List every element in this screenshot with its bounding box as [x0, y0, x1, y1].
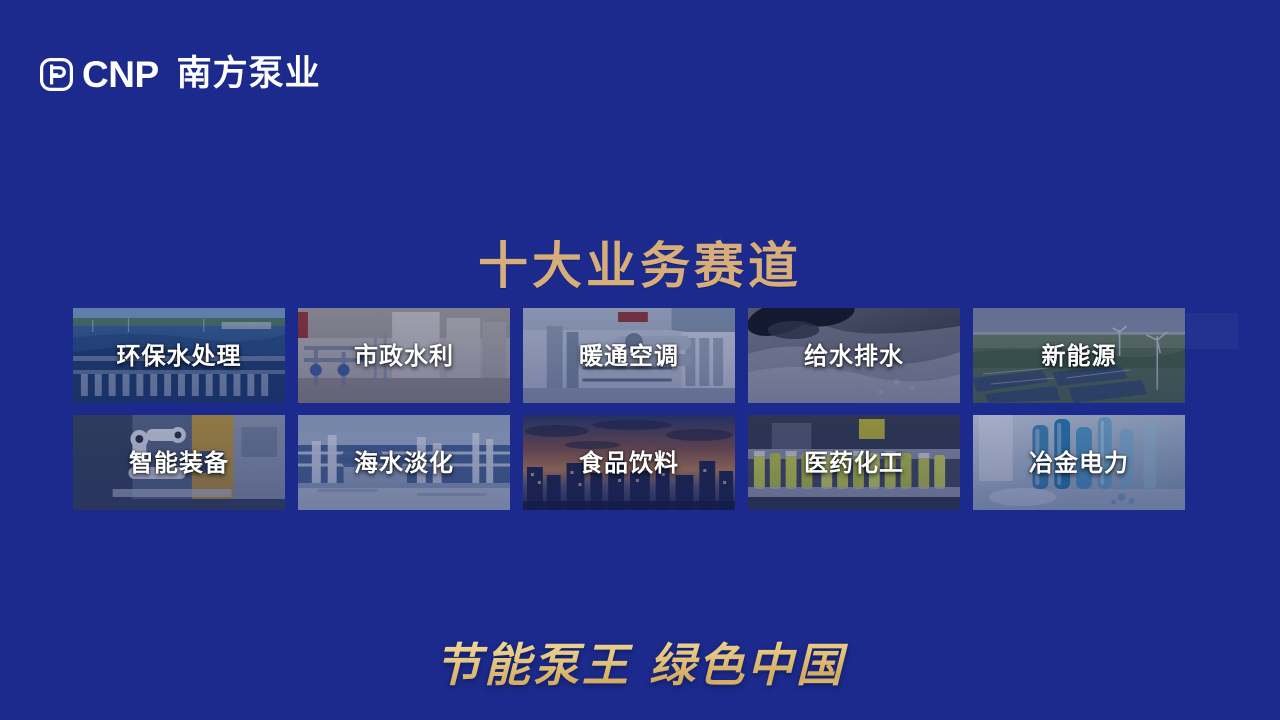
segment-card-label: 冶金电力 — [1029, 451, 1129, 475]
segment-card-pharma-chemical[interactable]: 医药化工 — [748, 415, 960, 510]
slogan-part-1: 节能泵王 — [435, 638, 631, 692]
logo-latin-text: CNP — [82, 56, 159, 93]
segment-card-label: 暖通空调 — [579, 344, 679, 368]
business-segments-grid: 环保水处理 — [73, 308, 1185, 510]
segment-card-metallurgy-power[interactable]: 冶金电力 — [973, 415, 1185, 510]
segment-card-seawater-desalination[interactable]: 海水淡化 — [298, 415, 510, 510]
segment-card-label: 医药化工 — [804, 451, 904, 475]
segment-card-intelligent-equipment[interactable]: 智能装备 — [73, 415, 285, 510]
segment-card-label: 环保水处理 — [117, 344, 242, 368]
segment-card-municipal-water[interactable]: 市政水利 — [298, 308, 510, 403]
brand-slogan: 节能泵王绿色中国 — [0, 640, 1280, 691]
segment-card-label: 给水排水 — [804, 344, 904, 368]
segment-card-label: 食品饮料 — [579, 451, 679, 475]
slide-root: CNP 南方泵业 十大业务赛道 — [0, 0, 1280, 720]
page-title: 十大业务赛道 — [0, 238, 1280, 296]
logo-chinese-text: 南方泵业 — [177, 57, 321, 92]
slogan-part-2: 绿色中国 — [649, 638, 845, 692]
segment-card-label: 海水淡化 — [354, 451, 454, 475]
segment-card-label: 新能源 — [1042, 344, 1117, 368]
segment-card-environmental-water[interactable]: 环保水处理 — [73, 308, 285, 403]
brand-logo: CNP 南方泵业 — [40, 52, 321, 96]
segment-card-water-supply-drainage[interactable]: 给水排水 — [748, 308, 960, 403]
segment-card-label: 市政水利 — [354, 344, 454, 368]
segment-card-label: 智能装备 — [129, 451, 229, 475]
segment-card-hvac[interactable]: 暖通空调 — [523, 308, 735, 403]
segment-card-food-beverage[interactable]: 食品饮料 — [523, 415, 735, 510]
cnp-monogram-icon — [40, 58, 73, 91]
segment-card-new-energy[interactable]: 新能源 — [973, 308, 1185, 403]
background-panel-artifact — [1186, 313, 1238, 349]
